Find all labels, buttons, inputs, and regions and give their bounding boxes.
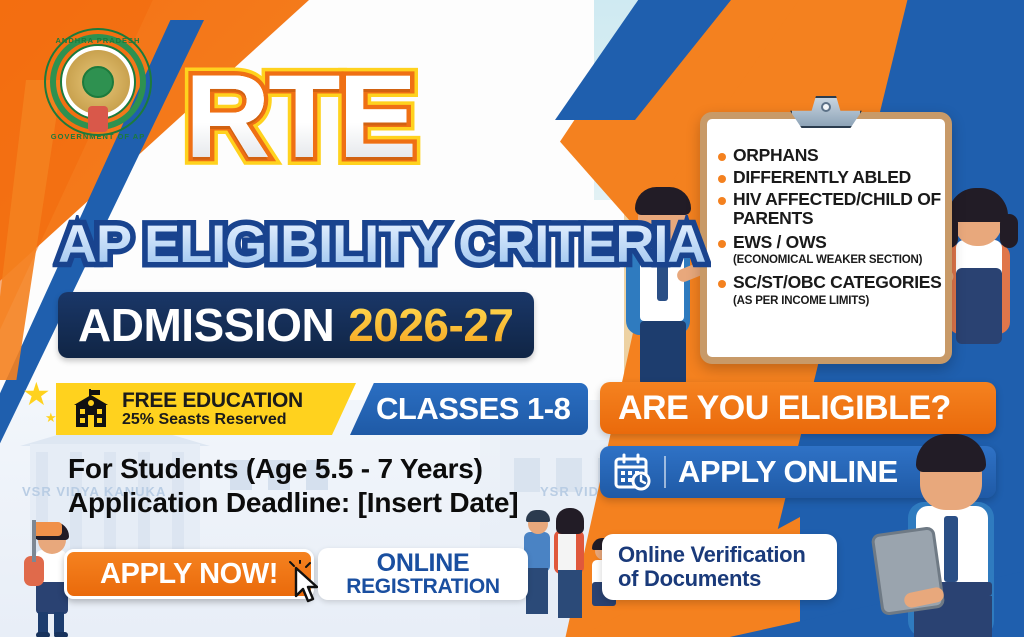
bullet-icon <box>718 153 726 161</box>
list-item: SC/ST/OBC CATEGORIES <box>718 273 943 292</box>
apply-online-label: APPLY ONLINE <box>678 454 898 490</box>
bullet-icon <box>718 240 726 248</box>
criteria-label: ORPHANS <box>733 146 818 165</box>
list-item: EWS / OWS <box>718 233 943 252</box>
classes-badge: CLASSES 1-8 <box>350 383 588 435</box>
criteria-label: DIFFERENTLY ABLED <box>733 168 911 187</box>
list-item: HIV AFFECTED/CHILD OF PARENTS <box>718 190 943 228</box>
criteria-label: EWS / OWS <box>733 233 827 252</box>
divider <box>664 456 666 488</box>
online-registration-panel[interactable]: ONLINE REGISTRATION <box>318 548 528 600</box>
admission-year: 2026-27 <box>348 302 513 348</box>
list-item: ORPHANS <box>718 146 943 165</box>
student-info: For Students (Age 5.5 - 7 Years) Applica… <box>68 452 518 520</box>
bullet-icon <box>718 197 726 205</box>
bullet-icon <box>718 280 726 288</box>
verification-line2: of Documents <box>618 567 837 591</box>
page-title: RTE <box>185 58 415 176</box>
bullet-icon <box>718 175 726 183</box>
admission-label: ADMISSION <box>78 302 334 348</box>
online-registration-line2: REGISTRATION <box>346 576 500 597</box>
calendar-clock-icon <box>614 453 652 491</box>
are-you-eligible-banner: ARE YOU ELIGIBLE? <box>600 382 996 434</box>
star-icon: ★ <box>22 375 51 413</box>
list-item: DIFFERENTLY ABLED <box>718 168 943 187</box>
are-you-eligible-label: ARE YOU ELIGIBLE? <box>618 389 951 428</box>
verification-line1: Online Verification <box>618 543 837 567</box>
criteria-label: SC/ST/OBC CATEGORIES <box>733 273 942 292</box>
emblem-top-text: ANDHRA PRADESH <box>36 36 160 45</box>
page-subtitle: AP ELIGIBILITY CRITERIA <box>58 218 705 271</box>
criteria-label: HIV AFFECTED/CHILD OF PARENTS <box>733 190 943 228</box>
ap-government-emblem: ANDHRA PRADESH GOVERNMENT OF AP <box>36 20 160 150</box>
application-deadline-line: Application Deadline: [Insert Date] <box>68 486 518 520</box>
criteria-sublabel: (AS PER INCOME LIMITS) <box>733 295 943 308</box>
rte-admission-poster: VSR VIDYA KANUKA YSR VIDYA KANUKA <box>0 0 1024 637</box>
student-age-line: For Students (Age 5.5 - 7 Years) <box>68 452 518 486</box>
criteria-sublabel: (ECONOMICAL WEAKER SECTION) <box>733 254 943 267</box>
free-education-text: FREE EDUCATION 25% Seasts Reserved <box>122 390 303 429</box>
apply-now-label: APPLY NOW! <box>100 558 278 591</box>
admission-banner: ADMISSION 2026-27 <box>58 292 534 358</box>
emblem-bottom-text: GOVERNMENT OF AP <box>36 132 160 141</box>
classes-label: CLASSES 1-8 <box>376 391 570 427</box>
apply-now-button[interactable]: APPLY NOW! <box>64 549 314 599</box>
online-registration-line1: ONLINE <box>377 551 470 577</box>
star-icon: ★ <box>45 410 57 426</box>
free-education-line1: FREE EDUCATION <box>122 390 303 412</box>
eligibility-criteria-list: ORPHANS DIFFERENTLY ABLED HIV AFFECTED/C… <box>718 146 943 308</box>
free-education-badge: FREE EDUCATION 25% Seasts Reserved <box>56 383 356 435</box>
online-verification-panel: Online Verification of Documents <box>602 534 837 600</box>
clipboard-clip-hole <box>821 102 831 112</box>
school-building-icon <box>70 389 112 429</box>
free-education-line2: 25% Seasts Reserved <box>122 412 303 429</box>
student-boy-with-tablet <box>890 430 1024 637</box>
